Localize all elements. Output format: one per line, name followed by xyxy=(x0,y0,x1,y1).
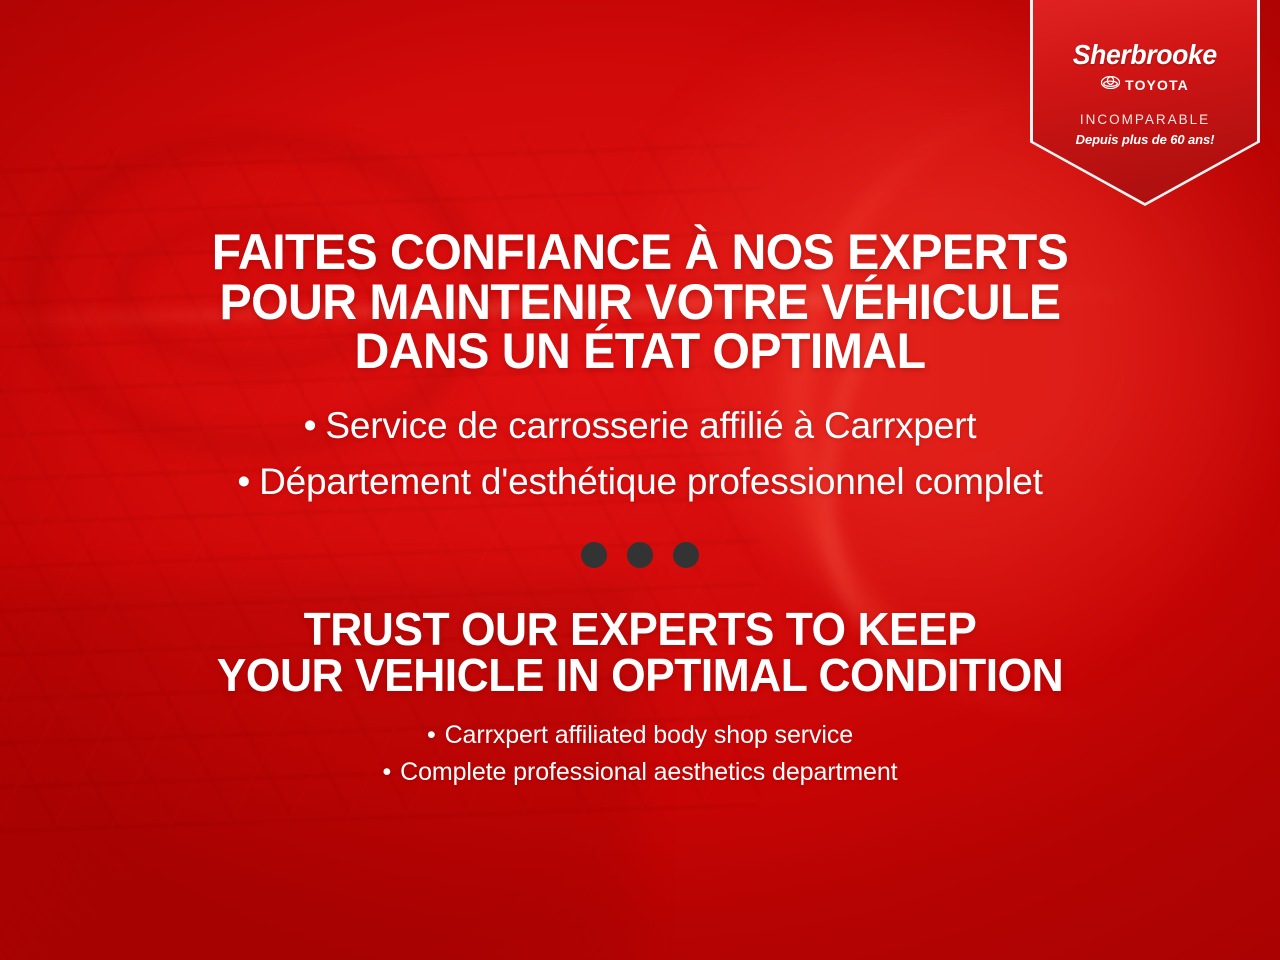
headline-english-line-1: TRUST OUR EXPERTS TO KEEP xyxy=(153,606,1128,652)
bullet-text-french-2: Département d'esthétique professionnel c… xyxy=(259,461,1043,502)
bullet-text-english-1: Carrxpert affiliated body shop service xyxy=(445,721,853,749)
bullet-list-english: •Carrxpert affiliated body shop service … xyxy=(135,722,1145,787)
headline-french-line-3: DANS UN ÉTAT OPTIMAL xyxy=(153,327,1128,377)
bullet-list-french: •Service de carrosserie affilié à Carrxp… xyxy=(135,407,1145,500)
bullet-marker-icon: • xyxy=(427,722,436,750)
separator-dot-1 xyxy=(581,542,607,568)
banner-content: FAITES CONFIANCE À NOS EXPERTS POUR MAIN… xyxy=(0,0,1280,960)
bullet-marker-icon: • xyxy=(237,463,250,500)
bullet-item-english-1: •Carrxpert affiliated body shop service xyxy=(427,722,853,750)
bullet-item-english-2: •Complete professional aesthetics depart… xyxy=(382,759,897,787)
bullet-text-french-1: Service de carrosserie affilié à Carrxpe… xyxy=(325,405,976,446)
bullet-item-french-1: •Service de carrosserie affilié à Carrxp… xyxy=(304,407,977,444)
headline-french-line-2: POUR MAINTENIR VOTRE VÉHICULE xyxy=(153,278,1128,328)
bullet-marker-icon: • xyxy=(382,759,391,787)
separator-dot-3 xyxy=(673,542,699,568)
separator-dot-2 xyxy=(627,542,653,568)
headline-french: FAITES CONFIANCE À NOS EXPERTS POUR MAIN… xyxy=(153,228,1128,377)
bullet-text-english-2: Complete professional aesthetics departm… xyxy=(400,758,897,786)
promo-banner: Sherbrooke TOYOTA INCOMPARABLE Depuis pl… xyxy=(0,0,1280,960)
three-dots-separator-icon xyxy=(581,542,699,568)
headline-french-line-1: FAITES CONFIANCE À NOS EXPERTS xyxy=(153,228,1128,278)
headline-english: TRUST OUR EXPERTS TO KEEP YOUR VEHICLE I… xyxy=(153,606,1128,698)
bullet-item-french-2: •Département d'esthétique professionnel … xyxy=(237,463,1042,500)
headline-english-line-2: YOUR VEHICLE IN OPTIMAL CONDITION xyxy=(153,652,1128,698)
bullet-marker-icon: • xyxy=(304,407,317,444)
